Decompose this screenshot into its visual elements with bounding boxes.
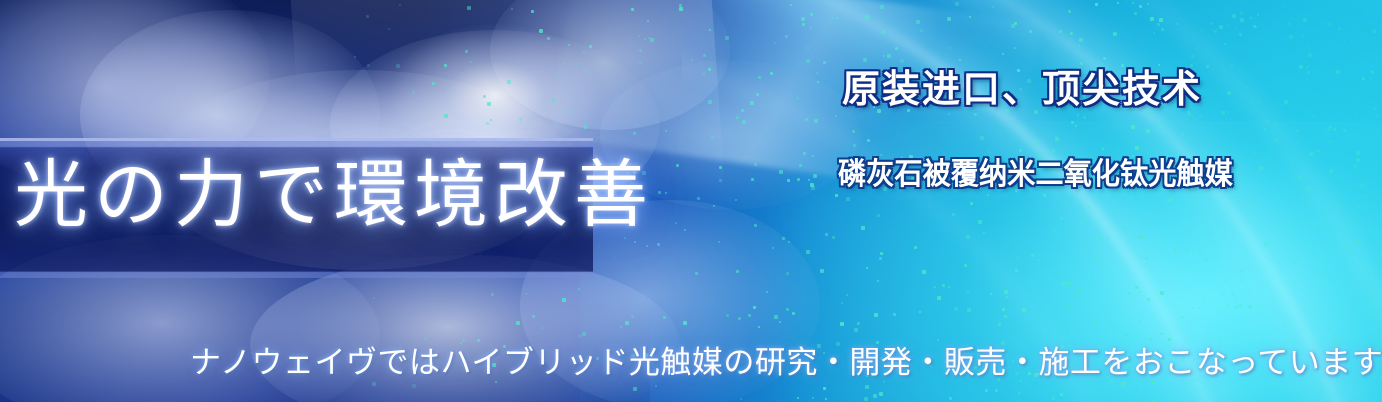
band-top-highlight bbox=[0, 138, 593, 141]
tagline-text: ナノウェイヴではハイブリッド光触媒の研究・開発・販売・施工をおこなっています bbox=[190, 348, 1382, 379]
headline-text: 光の力で環境改善 bbox=[14, 158, 614, 232]
promo-subheadline-cn: 磷灰石被覆纳米二氧化钛光触媒 bbox=[838, 160, 1233, 190]
hero-banner: 光の力で環境改善 原装进口、顶尖技术 磷灰石被覆纳米二氧化钛光触媒 ナノウェイヴ… bbox=[0, 0, 1382, 402]
light-arcs bbox=[682, 0, 1382, 402]
promo-headline-cn: 原装进口、顶尖技术 bbox=[842, 70, 1202, 108]
